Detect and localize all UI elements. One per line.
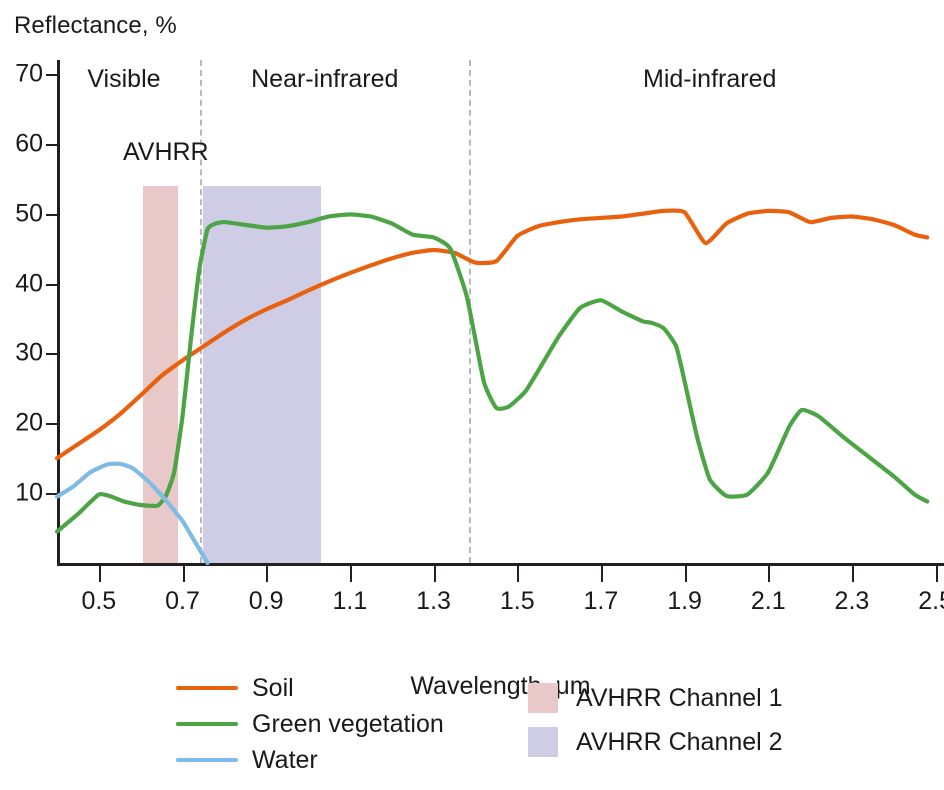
x-tick-mark xyxy=(517,566,519,582)
x-tick-label: 0.5 xyxy=(81,587,116,616)
chart-legend: SoilGreen vegetationWater AVHRR Channel … xyxy=(0,670,944,790)
x-tick-label: 2.3 xyxy=(835,587,870,616)
x-tick-label: 2.1 xyxy=(751,587,786,616)
legend-item-avhrr-channel-1[interactable]: AVHRR Channel 1 xyxy=(528,676,783,720)
legend-item-green-vegetation[interactable]: Green vegetation xyxy=(176,706,444,742)
legend-line-swatch xyxy=(176,758,238,762)
legend-item-label: Water xyxy=(252,746,318,775)
legend-item-label: AVHRR Channel 2 xyxy=(576,728,783,757)
series-line-soil xyxy=(57,211,927,459)
series-curves xyxy=(57,60,944,565)
legend-bands-column: AVHRR Channel 1AVHRR Channel 2 xyxy=(528,676,783,764)
x-tick-mark xyxy=(685,566,687,582)
legend-item-label: Soil xyxy=(252,674,294,703)
legend-item-label: Green vegetation xyxy=(252,710,444,739)
legend-line-swatch xyxy=(176,686,238,690)
legend-line-swatch xyxy=(176,722,238,726)
legend-series-column: SoilGreen vegetationWater xyxy=(176,670,444,778)
x-tick-label: 0.9 xyxy=(249,587,284,616)
legend-item-avhrr-channel-2[interactable]: AVHRR Channel 2 xyxy=(528,720,783,764)
y-tick-label: 50 xyxy=(15,199,43,228)
plot-area: 10203040506070 0.50.70.91.11.31.51.71.92… xyxy=(57,60,944,565)
y-tick-label: 10 xyxy=(15,479,43,508)
y-axis-title: Reflectance, % xyxy=(14,12,177,40)
y-tick-label: 60 xyxy=(15,129,43,158)
y-tick-mark xyxy=(46,284,57,286)
y-tick-mark xyxy=(46,493,57,495)
x-tick-mark xyxy=(434,566,436,582)
x-tick-mark xyxy=(350,566,352,582)
y-tick-mark xyxy=(46,214,57,216)
legend-band-swatch xyxy=(528,683,558,713)
x-tick-label: 1.1 xyxy=(332,587,367,616)
x-tick-label: 1.5 xyxy=(500,587,535,616)
y-tick-label: 70 xyxy=(15,59,43,88)
x-tick-label: 0.7 xyxy=(165,587,200,616)
x-tick-label: 1.9 xyxy=(667,587,702,616)
y-tick-mark xyxy=(46,74,57,76)
y-tick-label: 20 xyxy=(15,409,43,438)
legend-band-swatch xyxy=(528,727,558,757)
x-tick-mark xyxy=(601,566,603,582)
x-tick-mark xyxy=(768,566,770,582)
x-tick-label: 2.5 xyxy=(918,587,944,616)
x-tick-mark xyxy=(266,566,268,582)
legend-item-water[interactable]: Water xyxy=(176,742,444,778)
x-tick-label: 1.7 xyxy=(584,587,619,616)
x-tick-mark xyxy=(852,566,854,582)
y-tick-label: 30 xyxy=(15,339,43,368)
y-tick-mark xyxy=(46,353,57,355)
legend-item-soil[interactable]: Soil xyxy=(176,670,444,706)
y-tick-label: 40 xyxy=(15,269,43,298)
x-tick-label: 1.3 xyxy=(416,587,451,616)
y-tick-mark xyxy=(46,423,57,425)
x-tick-mark xyxy=(183,566,185,582)
chart-page: Reflectance, % 10203040506070 0.50.70.91… xyxy=(0,0,944,790)
x-tick-mark xyxy=(936,566,938,582)
x-tick-mark xyxy=(99,566,101,582)
y-tick-mark xyxy=(46,144,57,146)
legend-item-label: AVHRR Channel 1 xyxy=(576,684,783,713)
